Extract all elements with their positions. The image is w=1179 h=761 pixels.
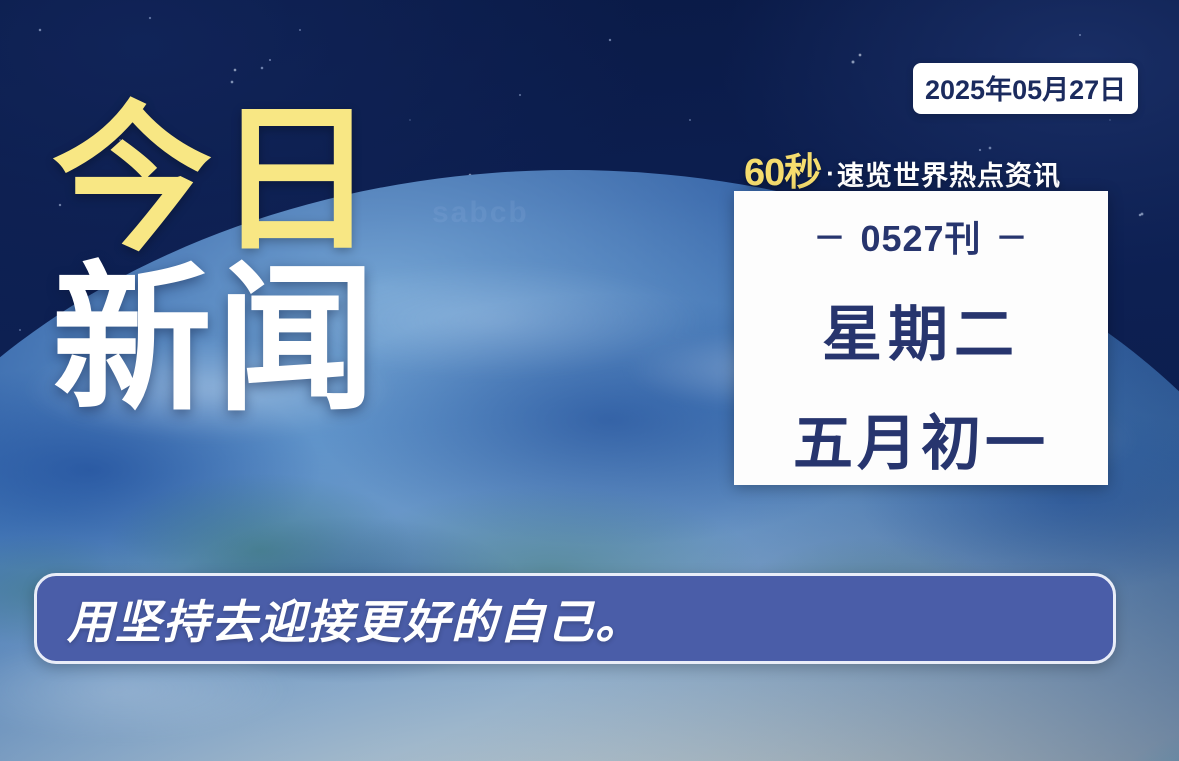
quote-banner: 用坚持去迎接更好的自己。 — [34, 573, 1116, 664]
weekday-label: 星期二 — [822, 286, 1020, 373]
news-poster: sabcb 今日 新闻 2025年05月27日 60秒·速览世界热点资讯 － 0… — [0, 0, 1179, 761]
tagline-separator: · — [826, 158, 835, 188]
tagline-subtitle: 速览世界热点资讯 — [837, 161, 1061, 191]
issue-dash-left: － — [813, 213, 846, 259]
poster-title: 今日 新闻 — [52, 96, 492, 424]
tagline-seconds: 60秒 — [744, 152, 821, 194]
lunar-date-label: 五月初一 — [793, 395, 1049, 482]
title-line-jinri: 今日 — [52, 96, 492, 264]
date-badge: 2025年05月27日 — [913, 63, 1138, 114]
title-line-xinwen: 新闻 — [52, 256, 492, 424]
tagline: 60秒·速览世界热点资讯 — [744, 141, 1061, 196]
quote-text: 用坚持去迎接更好的自己。 — [67, 586, 643, 652]
issue-info-card: － 0527刊 － 星期二 五月初一 — [734, 191, 1108, 485]
issue-dash-right: － — [996, 213, 1029, 259]
issue-number: 0527刊 — [860, 210, 981, 262]
issue-row: － 0527刊 － — [813, 210, 1028, 262]
